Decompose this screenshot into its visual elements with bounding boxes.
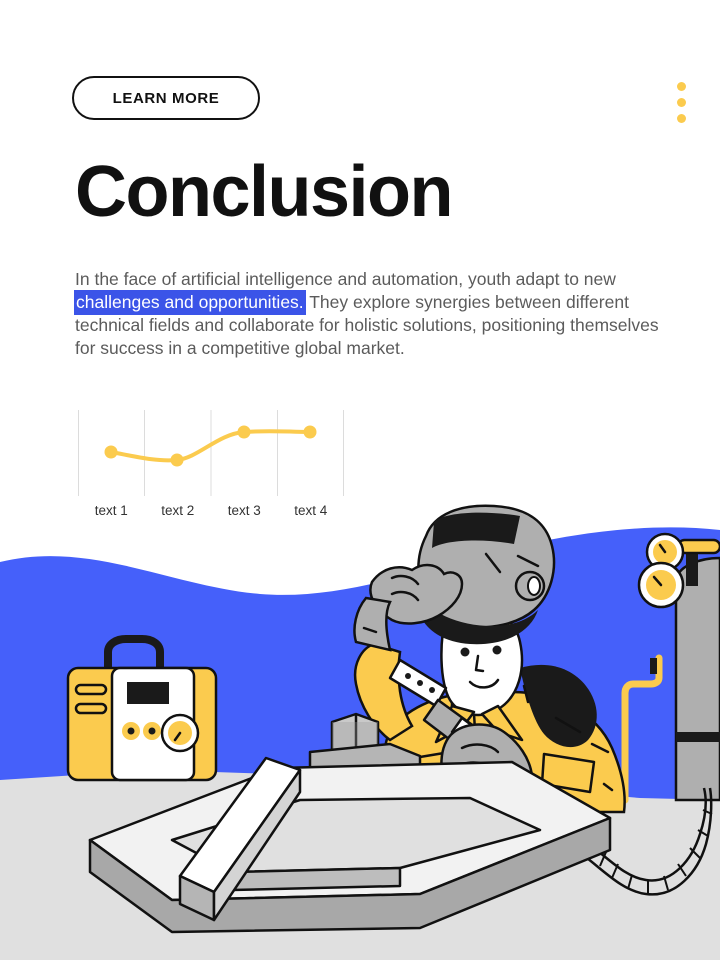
welder-eye bbox=[493, 646, 502, 655]
metal-frame-inner-shade bbox=[232, 868, 400, 890]
dot-icon bbox=[677, 98, 686, 107]
dot-icon bbox=[677, 114, 686, 123]
machine-display bbox=[127, 682, 169, 704]
cylinder-body bbox=[676, 558, 720, 800]
body-text-part1: In the face of artificial intelligence a… bbox=[75, 269, 616, 289]
cylinder-neck bbox=[686, 550, 698, 586]
learn-more-label: LEARN MORE bbox=[113, 90, 220, 107]
glove-cuff bbox=[354, 598, 390, 650]
welder-illustration bbox=[0, 500, 720, 960]
welder-eye bbox=[461, 648, 470, 657]
machine-vent bbox=[76, 704, 106, 713]
cylinder-stripe bbox=[676, 732, 720, 742]
mini-line-chart bbox=[78, 410, 344, 496]
body-paragraph: In the face of artificial intelligence a… bbox=[75, 268, 665, 360]
highlighted-phrase: challenges and opportunities. bbox=[75, 291, 305, 314]
learn-more-button[interactable]: LEARN MORE bbox=[72, 76, 260, 120]
page-title: Conclusion bbox=[75, 150, 452, 234]
valve-handle bbox=[678, 540, 720, 553]
machine-vent bbox=[76, 685, 106, 694]
dot-icon bbox=[677, 82, 686, 91]
decorative-dots bbox=[677, 82, 686, 123]
pressure-gauge-bottom bbox=[639, 563, 683, 607]
slide-root: LEARN MORE Conclusion In the face of art… bbox=[0, 0, 720, 960]
cylinder-side-pipe bbox=[650, 658, 657, 674]
